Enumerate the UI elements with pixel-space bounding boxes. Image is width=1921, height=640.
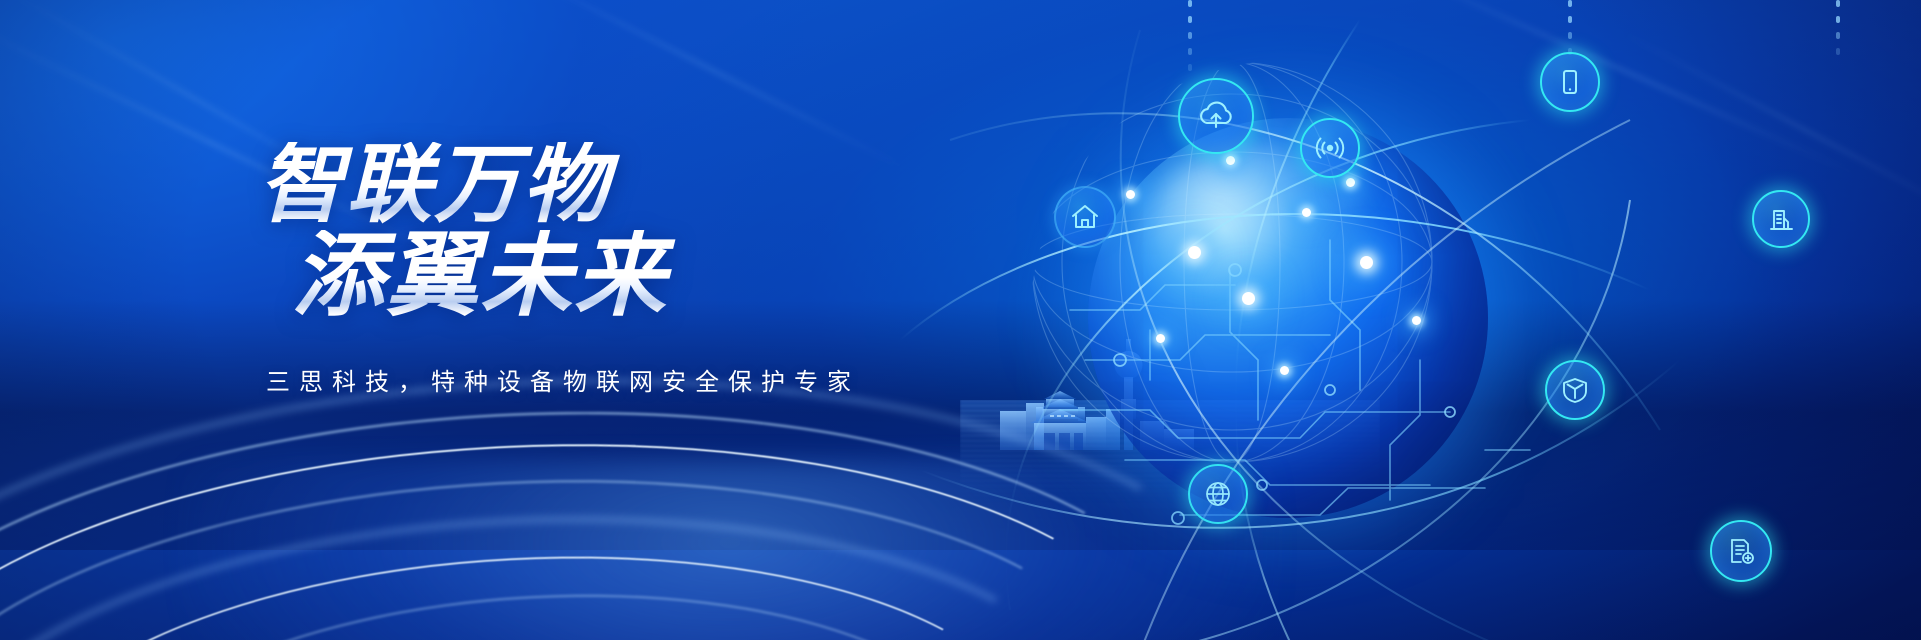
document-settings-icon[interactable] <box>1710 520 1772 582</box>
shield-icon[interactable] <box>1545 360 1605 420</box>
wifi-signal-icon[interactable] <box>1300 118 1360 178</box>
headline-line-2: 添翼未来 <box>292 230 950 322</box>
building-icon[interactable] <box>1752 190 1810 248</box>
cloud-upload-icon[interactable] <box>1178 78 1254 154</box>
dotted-stream-far-right <box>1836 0 1840 64</box>
dotted-stream-left <box>1188 0 1192 80</box>
subtitle: 三思科技，特种设备物联网安全保护专家 <box>266 362 950 397</box>
headline-line-1: 智联万物 <box>258 142 950 228</box>
headline-block: 智联万物 添翼未来 三思科技，特种设备物联网安全保护专家 <box>250 142 950 397</box>
page-title: 智联万物 添翼未来 <box>250 142 950 322</box>
hero-banner: 智联万物 添翼未来 三思科技，特种设备物联网安全保护专家 <box>0 0 1921 640</box>
mobile-phone-icon[interactable] <box>1540 52 1600 112</box>
home-icon[interactable] <box>1054 186 1116 248</box>
